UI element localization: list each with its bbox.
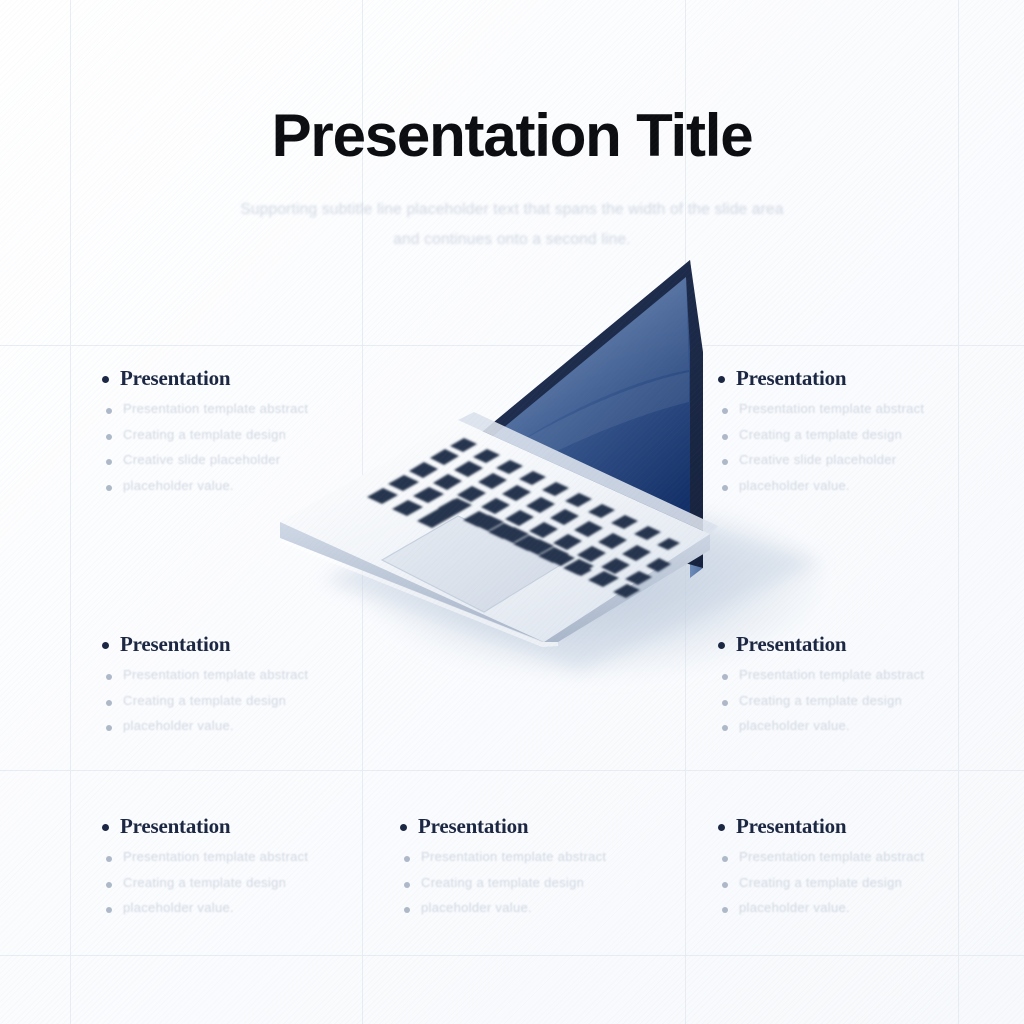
list-item: placeholder value. (106, 477, 402, 495)
sub-bullet-dot-icon (722, 674, 728, 680)
bullet-heading-label: Presentation (736, 814, 846, 839)
subtitle: Supporting subtitle line placeholder tex… (167, 195, 857, 255)
list-item: placeholder value. (106, 717, 402, 735)
bullet-group-row3-col1: Presentation Presentation template abstr… (102, 814, 402, 925)
list-item: Presentation template abstract (722, 848, 1018, 866)
sub-bullet-label: Presentation template abstract (123, 666, 308, 684)
list-item: Presentation template abstract (404, 848, 700, 866)
sub-bullet-dot-icon (722, 459, 728, 465)
sub-bullet-label: Creating a template design (739, 874, 902, 892)
list-item: placeholder value. (106, 899, 402, 917)
sub-bullet-label: Creating a template design (123, 426, 286, 444)
bullet-group-row3-col3: Presentation Presentation template abstr… (718, 814, 1018, 925)
sub-bullet-dot-icon (106, 459, 112, 465)
subtitle-line: Supporting subtitle line placeholder tex… (167, 195, 857, 225)
bullet-dot-icon (102, 376, 109, 383)
list-item: Creative slide placeholder (722, 451, 1018, 469)
list-item: Creating a template design (722, 692, 1018, 710)
sub-bullet-label: Creating a template design (123, 692, 286, 710)
sub-bullet-dot-icon (106, 725, 112, 731)
bullet-dot-icon (400, 824, 407, 831)
sub-bullet-dot-icon (106, 485, 112, 491)
bullet-heading-label: Presentation (736, 366, 846, 391)
sub-bullet-list: Presentation template abstract Creating … (102, 400, 402, 494)
sub-bullet-dot-icon (106, 700, 112, 706)
bullet-group-row1-col3: Presentation Presentation template abstr… (718, 366, 1018, 502)
sub-bullet-label: Creating a template design (739, 426, 902, 444)
sub-bullet-dot-icon (722, 882, 728, 888)
sub-bullet-dot-icon (722, 485, 728, 491)
list-item: placeholder value. (404, 899, 700, 917)
sub-bullet-dot-icon (722, 700, 728, 706)
sub-bullet-dot-icon (722, 907, 728, 913)
sub-bullet-list: Presentation template abstract Creating … (718, 666, 1018, 735)
sub-bullet-list: Presentation template abstract Creating … (718, 400, 1018, 494)
bullet-group-row2-col1: Presentation Presentation template abstr… (102, 632, 402, 743)
list-item: Presentation template abstract (722, 400, 1018, 418)
bullet-heading-label: Presentation (736, 632, 846, 657)
page-title: Presentation Title (0, 104, 1024, 167)
sub-bullet-label: placeholder value. (739, 477, 850, 495)
sub-bullet-dot-icon (106, 674, 112, 680)
bullet-dot-icon (102, 642, 109, 649)
bullet-dot-icon (718, 642, 725, 649)
sub-bullet-label: Creative slide placeholder (739, 451, 896, 469)
list-item: Creating a template design (106, 874, 402, 892)
sub-bullet-label: placeholder value. (123, 477, 234, 495)
bullet-group-row1-col1: Presentation Presentation template abstr… (102, 366, 402, 502)
list-item: Creating a template design (106, 426, 402, 444)
sub-bullet-dot-icon (404, 882, 410, 888)
bullet-group-row2-col3: Presentation Presentation template abstr… (718, 632, 1018, 743)
list-item: Creative slide placeholder (106, 451, 402, 469)
sub-bullet-dot-icon (722, 856, 728, 862)
bullet-heading: Presentation (102, 366, 402, 391)
bullet-heading: Presentation (718, 366, 1018, 391)
list-item: Presentation template abstract (106, 848, 402, 866)
sub-bullet-dot-icon (404, 907, 410, 913)
bullet-heading-label: Presentation (418, 814, 528, 839)
bullet-heading-label: Presentation (120, 632, 230, 657)
bullet-heading: Presentation (718, 632, 1018, 657)
bullet-dot-icon (718, 824, 725, 831)
bullet-heading: Presentation (400, 814, 700, 839)
sub-bullet-list: Presentation template abstract Creating … (102, 666, 402, 735)
sub-bullet-label: Creating a template design (421, 874, 584, 892)
bullet-heading: Presentation (102, 632, 402, 657)
gridline-horizontal (0, 770, 1024, 771)
list-item: Presentation template abstract (106, 400, 402, 418)
sub-bullet-label: Creating a template design (739, 692, 902, 710)
bullet-heading: Presentation (718, 814, 1018, 839)
list-item: Presentation template abstract (106, 666, 402, 684)
list-item: Creating a template design (404, 874, 700, 892)
list-item: Creating a template design (722, 426, 1018, 444)
list-item: placeholder value. (722, 717, 1018, 735)
sub-bullet-list: Presentation template abstract Creating … (400, 848, 700, 917)
sub-bullet-label: Creating a template design (123, 874, 286, 892)
sub-bullet-dot-icon (106, 907, 112, 913)
list-item: placeholder value. (722, 477, 1018, 495)
sub-bullet-label: placeholder value. (739, 899, 850, 917)
bullet-dot-icon (102, 824, 109, 831)
sub-bullet-dot-icon (722, 725, 728, 731)
title-block: Presentation Title Supporting subtitle l… (0, 104, 1024, 255)
list-item: Presentation template abstract (722, 666, 1018, 684)
sub-bullet-label: Presentation template abstract (123, 400, 308, 418)
list-item: placeholder value. (722, 899, 1018, 917)
sub-bullet-label: Presentation template abstract (739, 666, 924, 684)
sub-bullet-label: Presentation template abstract (739, 848, 924, 866)
bullet-group-row3-col2: Presentation Presentation template abstr… (400, 814, 700, 925)
sub-bullet-label: Presentation template abstract (739, 400, 924, 418)
sub-bullet-label: placeholder value. (739, 717, 850, 735)
list-item: Creating a template design (106, 692, 402, 710)
bullet-dot-icon (718, 376, 725, 383)
sub-bullet-label: placeholder value. (421, 899, 532, 917)
bullet-heading-label: Presentation (120, 366, 230, 391)
sub-bullet-label: Presentation template abstract (421, 848, 606, 866)
sub-bullet-dot-icon (106, 434, 112, 440)
sub-bullet-dot-icon (722, 408, 728, 414)
sub-bullet-label: placeholder value. (123, 717, 234, 735)
sub-bullet-dot-icon (722, 434, 728, 440)
gridline-horizontal (0, 955, 1024, 956)
sub-bullet-list: Presentation template abstract Creating … (718, 848, 1018, 917)
bullet-heading: Presentation (102, 814, 402, 839)
sub-bullet-label: Creative slide placeholder (123, 451, 280, 469)
sub-bullet-dot-icon (106, 882, 112, 888)
sub-bullet-list: Presentation template abstract Creating … (102, 848, 402, 917)
sub-bullet-label: placeholder value. (123, 899, 234, 917)
bullet-heading-label: Presentation (120, 814, 230, 839)
presentation-slide: Presentation Title Supporting subtitle l… (0, 0, 1024, 1024)
list-item: Creating a template design (722, 874, 1018, 892)
sub-bullet-dot-icon (106, 408, 112, 414)
sub-bullet-dot-icon (106, 856, 112, 862)
sub-bullet-label: Presentation template abstract (123, 848, 308, 866)
sub-bullet-dot-icon (404, 856, 410, 862)
